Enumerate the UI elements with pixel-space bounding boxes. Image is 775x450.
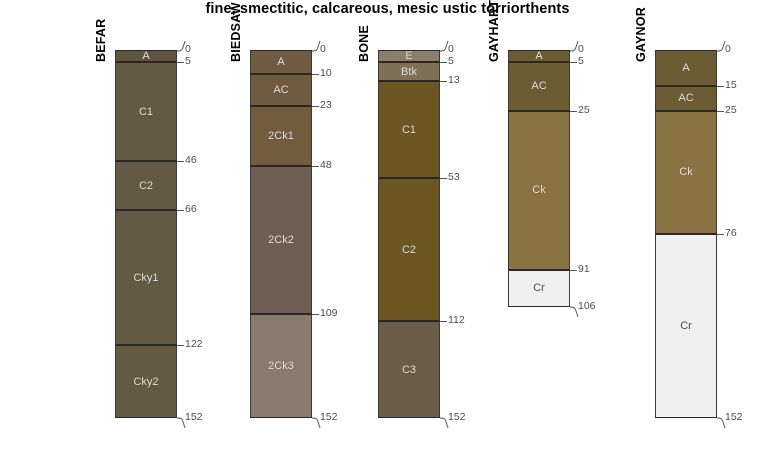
depth-tick — [177, 345, 184, 346]
depth-tick — [440, 321, 447, 322]
depth-tick — [177, 210, 184, 211]
horizon-label: AC — [251, 84, 311, 96]
depth-tick-label: 15 — [725, 80, 737, 90]
horizon-label: Cky1 — [116, 272, 176, 284]
horizon-label: A — [116, 50, 176, 62]
depth-tick-label: 23 — [320, 100, 332, 110]
horizon-label: C1 — [116, 106, 176, 118]
pedon-name-label: BEFAR — [94, 19, 108, 62]
soil-horizon: C2 — [115, 161, 177, 209]
depth-tick-label: 76 — [725, 228, 737, 238]
depth-tick-label: 10 — [320, 68, 332, 78]
soil-horizon: A — [655, 50, 717, 86]
depth-tick-label: 66 — [185, 204, 197, 214]
soil-horizon: Cr — [655, 234, 717, 418]
soil-horizon: 2Ck1 — [250, 106, 312, 167]
soil-horizon: A — [508, 50, 570, 62]
soil-horizon: Ck — [655, 111, 717, 234]
soil-profile-figure: fine, smectitic, calcareous, mesic ustic… — [0, 0, 775, 450]
depth-tick — [570, 111, 577, 112]
horizon-label: Btk — [379, 66, 439, 78]
depth-tick — [717, 111, 724, 112]
horizon-label: A — [656, 62, 716, 74]
horizon-label: AC — [509, 80, 569, 92]
depth-tick-label: 25 — [578, 105, 590, 115]
depth-tick — [440, 62, 447, 63]
depth-tick-label: 152 — [320, 412, 338, 422]
soil-horizon: C3 — [378, 321, 440, 418]
depth-tick-label: 0 — [185, 44, 191, 54]
pedon-name-label: BONE — [357, 25, 371, 62]
depth-tick-label: 152 — [725, 412, 743, 422]
pedon-name-label: GAYNOR — [634, 7, 648, 62]
depth-tick-label: 109 — [320, 308, 338, 318]
soil-horizon: AC — [508, 62, 570, 110]
soil-horizon: Ck — [508, 111, 570, 271]
depth-tick — [312, 166, 319, 167]
soil-horizon: AC — [655, 86, 717, 110]
depth-tick-label: 5 — [578, 56, 584, 66]
soil-horizon: Cr — [508, 270, 570, 306]
depth-tick-label: 13 — [448, 75, 460, 85]
depth-tick — [177, 62, 184, 63]
soil-horizon: 2Ck2 — [250, 166, 312, 314]
soil-horizon: Cky1 — [115, 210, 177, 346]
pedon-name-label: GAYHART — [487, 0, 501, 62]
horizon-label: C2 — [379, 244, 439, 256]
horizon-label: E — [379, 50, 439, 62]
depth-tick-label: 53 — [448, 172, 460, 182]
horizon-label: Cky2 — [116, 376, 176, 388]
depth-tick — [717, 86, 724, 87]
soil-horizon: Btk — [378, 62, 440, 81]
depth-tick — [717, 234, 724, 235]
depth-tick-label: 25 — [725, 105, 737, 115]
depth-tick-label: 0 — [320, 44, 326, 54]
depth-tick-label: 48 — [320, 160, 332, 170]
depth-tick-label: 152 — [448, 412, 466, 422]
horizon-label: 2Ck2 — [251, 234, 311, 246]
depth-tick — [312, 106, 319, 107]
horizon-label: A — [509, 50, 569, 62]
depth-tick-label: 112 — [448, 315, 465, 325]
page-title: fine, smectitic, calcareous, mesic ustic… — [0, 1, 775, 17]
pedon-name-label: BIEDSAW — [229, 2, 243, 62]
soil-horizon: A — [250, 50, 312, 74]
depth-tick-label: 0 — [725, 44, 731, 54]
soil-horizon: AC — [250, 74, 312, 105]
soil-horizon: C1 — [115, 62, 177, 161]
depth-tick-label: 0 — [578, 44, 584, 54]
horizon-label: C3 — [379, 364, 439, 376]
depth-tick-label: 5 — [448, 56, 454, 66]
horizon-label: Cr — [509, 282, 569, 294]
soil-horizon: A — [115, 50, 177, 62]
depth-tick — [440, 178, 447, 179]
depth-tick-label: 122 — [185, 339, 203, 349]
depth-tick-label: 152 — [185, 412, 203, 422]
horizon-label: C1 — [379, 124, 439, 136]
depth-tick-label: 46 — [185, 155, 197, 165]
horizon-label: Cr — [656, 320, 716, 332]
horizon-label: Ck — [509, 184, 569, 196]
soil-horizon: E — [378, 50, 440, 62]
horizon-label: C2 — [116, 180, 176, 192]
depth-tick — [177, 161, 184, 162]
soil-horizon: C2 — [378, 178, 440, 321]
depth-tick — [570, 270, 577, 271]
depth-tick-label: 91 — [578, 264, 590, 274]
soil-horizon: Cky2 — [115, 345, 177, 418]
depth-tick — [440, 81, 447, 82]
horizon-label: Ck — [656, 166, 716, 178]
soil-horizon: C1 — [378, 81, 440, 178]
depth-tick — [312, 74, 319, 75]
horizon-label: 2Ck1 — [251, 130, 311, 142]
horizon-label: A — [251, 56, 311, 68]
depth-tick — [312, 314, 319, 315]
depth-tick — [570, 62, 577, 63]
depth-tick-label: 5 — [185, 56, 191, 66]
horizon-label: 2Ck3 — [251, 360, 311, 372]
depth-tick-label: 106 — [578, 301, 596, 311]
soil-horizon: 2Ck3 — [250, 314, 312, 418]
depth-tick-label: 0 — [448, 44, 454, 54]
horizon-label: AC — [656, 92, 716, 104]
